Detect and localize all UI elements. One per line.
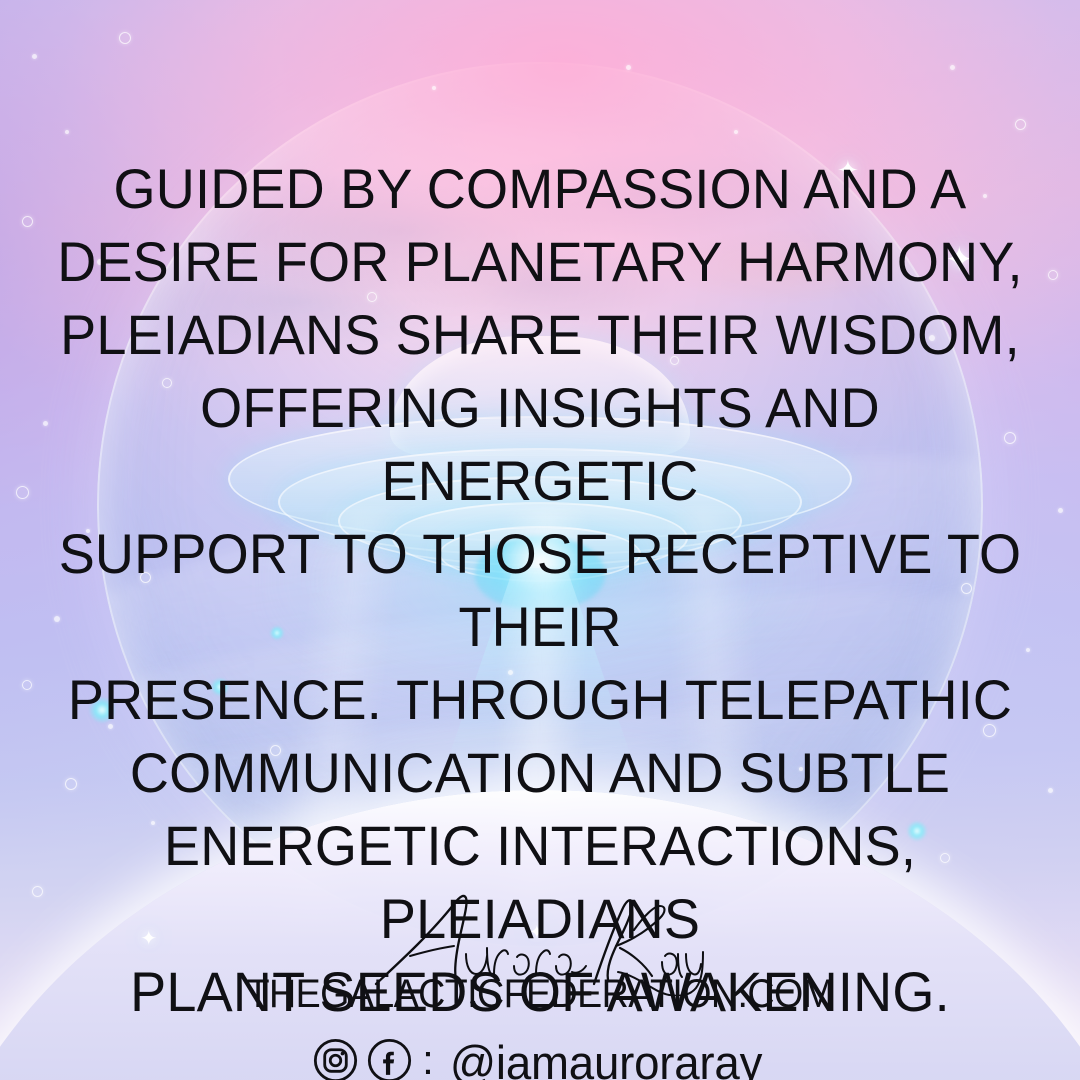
handle-separator: : bbox=[421, 1039, 436, 1080]
website-url[interactable]: THEGALACTICFEDERATION.COM bbox=[32, 972, 1047, 1017]
quote-card: ✦ ✦ ✦ ✦ GUIDED BY COMPASSION AND A DESIR… bbox=[0, 0, 1080, 1080]
quote-text: GUIDED BY COMPASSION AND A DESIRE FOR PL… bbox=[53, 0, 1028, 1028]
facebook-icon[interactable] bbox=[367, 1038, 412, 1080]
instagram-icon[interactable] bbox=[313, 1038, 358, 1080]
foreground-content: GUIDED BY COMPASSION AND A DESIRE FOR PL… bbox=[0, 0, 1080, 1080]
social-handle-row: : @iamauroraray bbox=[313, 1035, 767, 1080]
handle-username[interactable]: @iamauroraray bbox=[450, 1035, 762, 1080]
